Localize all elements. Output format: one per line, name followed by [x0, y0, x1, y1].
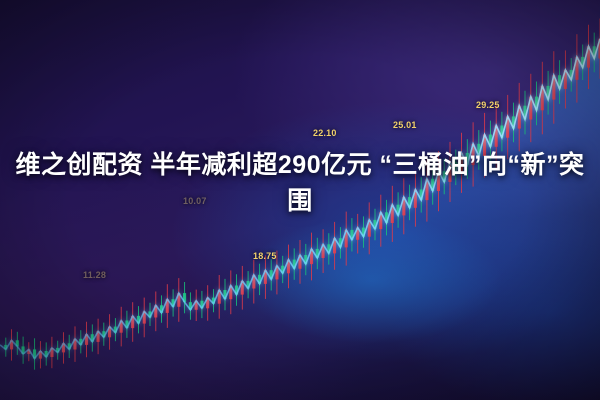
price-label: 25.01	[393, 120, 417, 130]
price-label: 18.75	[253, 251, 277, 261]
headline-text: 维之创配资 半年减利超290亿元 “三桶油”向“新”突围	[0, 148, 600, 219]
price-label: 11.28	[83, 270, 106, 280]
price-label: 29.25	[476, 100, 500, 110]
thumbnail-image: 29.2525.0122.1018.7510.0711.28 维之创配资 半年减…	[0, 0, 600, 400]
price-label: 22.10	[313, 128, 337, 138]
